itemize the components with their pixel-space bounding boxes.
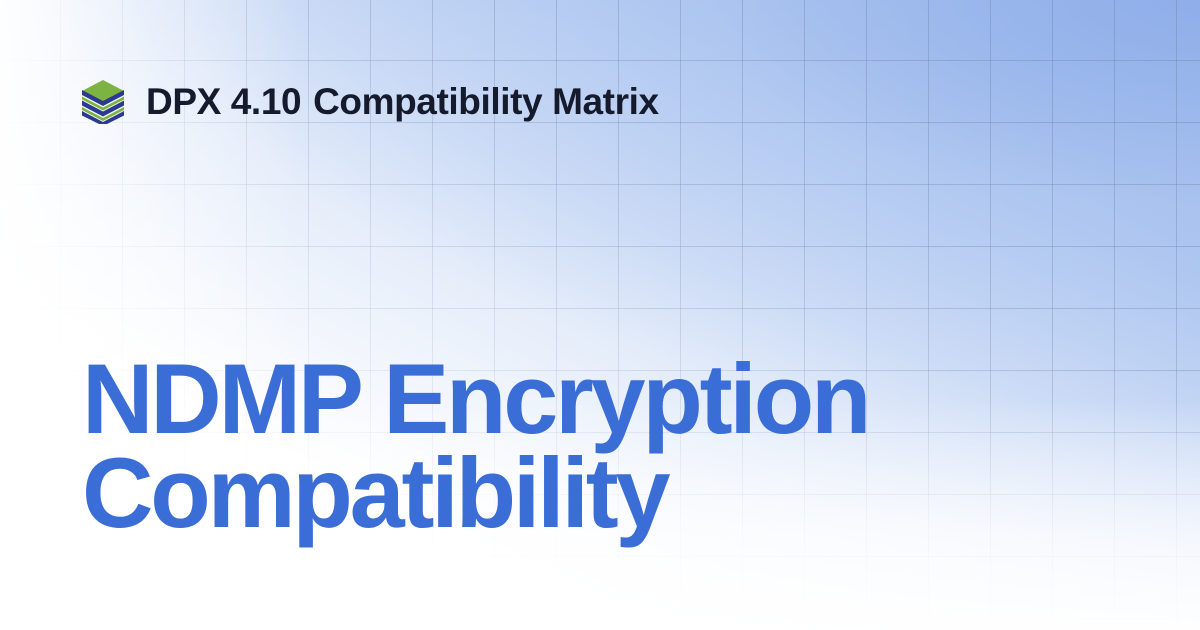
brand-subject: Compatibility Matrix: [313, 81, 659, 122]
brand-lockup: DPX 4.10 Compatibility Matrix: [80, 78, 659, 124]
page-title-line-2: Compatibility: [82, 446, 1082, 540]
page-title-line-1: NDMP Encryption: [82, 352, 1082, 446]
compatibility-matrix-banner: DPX 4.10 Compatibility Matrix NDMP Encry…: [0, 0, 1200, 630]
stacked-layers-icon: [80, 78, 126, 124]
page-title: NDMP Encryption Compatibility: [82, 352, 1082, 540]
brand-title: DPX 4.10 Compatibility Matrix: [146, 83, 659, 120]
product-version: DPX 4.10: [146, 81, 301, 122]
